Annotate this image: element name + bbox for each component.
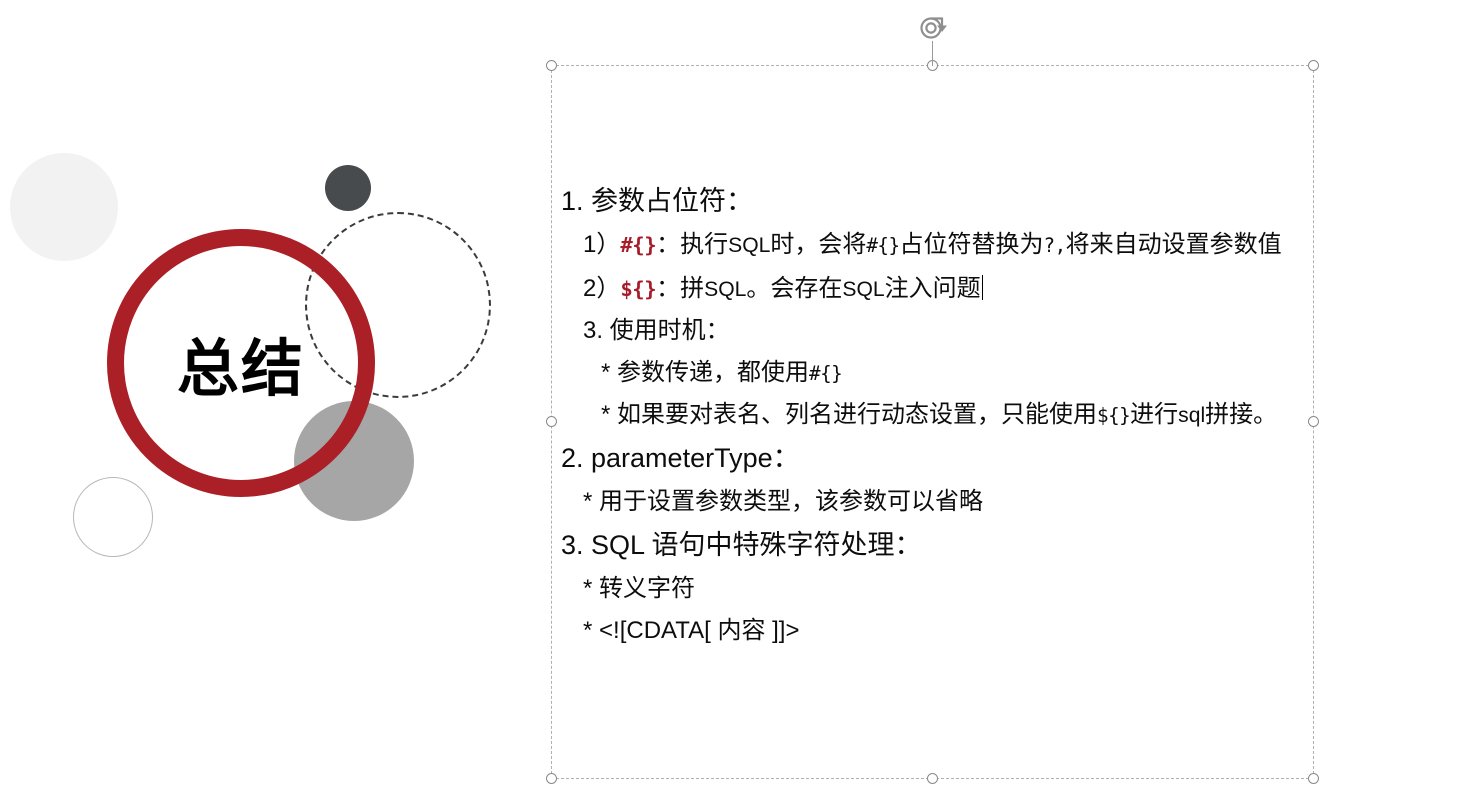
text-run: 1） bbox=[583, 231, 620, 258]
text-line[interactable]: 2）${}：拼SQL。会存在SQL注入问题 bbox=[583, 275, 1306, 301]
text-line[interactable]: * 转义字符 bbox=[583, 577, 1306, 601]
sql-keyword: SQL bbox=[704, 278, 746, 301]
resize-handle-middle-right[interactable] bbox=[1308, 416, 1319, 427]
text-line[interactable]: * 用于设置参数类型，该参数可以省略 bbox=[583, 490, 1306, 514]
text-run: * 用于设置参数类型，该参数可以省略 bbox=[583, 488, 983, 515]
sql-keyword: sql bbox=[1178, 404, 1205, 427]
mono-token: ?, bbox=[1044, 234, 1066, 257]
text-line[interactable]: * 参数传递，都使用#{} bbox=[601, 361, 1306, 385]
code-token: #{} bbox=[620, 233, 656, 257]
dark-small-circle-icon bbox=[325, 165, 371, 211]
text-line[interactable]: 1. 参数占位符： bbox=[561, 188, 1306, 215]
text-run: 1. 参数占位符： bbox=[561, 186, 753, 216]
textbox-content[interactable]: 1. 参数占位符：1）#{}：执行SQL时，会将#{}占位符替换为?,将来自动设… bbox=[561, 188, 1306, 661]
text-line[interactable]: 3. 使用时机： bbox=[583, 319, 1306, 343]
sql-keyword: SQL bbox=[728, 234, 770, 257]
rotate-icon[interactable] bbox=[917, 14, 949, 44]
text-run: 进行 bbox=[1130, 401, 1178, 428]
text-run: 2. parameterType： bbox=[561, 443, 800, 473]
text-run: 拼接。 bbox=[1205, 401, 1277, 428]
text-run: * 参数传递，都使用 bbox=[601, 359, 809, 386]
resize-handle-bottom-middle[interactable] bbox=[927, 773, 938, 784]
text-line[interactable]: 1）#{}：执行SQL时，会将#{}占位符替换为?,将来自动设置参数值 bbox=[583, 233, 1306, 257]
text-caret bbox=[982, 275, 984, 300]
text-run: 3. SQL 语句中特殊字符处理： bbox=[561, 530, 922, 560]
mono-token: #{} bbox=[809, 362, 842, 385]
text-run: 占位符替换为 bbox=[900, 231, 1044, 258]
text-run: 2） bbox=[583, 275, 620, 302]
text-line[interactable]: * 如果要对表名、列名进行动态设置，只能使用${}进行sql拼接。 bbox=[601, 403, 1306, 427]
resize-handle-middle-left[interactable] bbox=[546, 416, 557, 427]
text-line[interactable]: 2. parameterType： bbox=[561, 445, 1306, 472]
resize-handle-bottom-right[interactable] bbox=[1308, 773, 1319, 784]
text-run: ：执行 bbox=[656, 231, 728, 258]
pale-large-circle-icon bbox=[10, 153, 118, 261]
text-run: 注入问题 bbox=[885, 275, 981, 302]
text-run: 。会存在 bbox=[746, 275, 842, 302]
decoration-title: 总结 bbox=[107, 229, 375, 497]
text-run: * 如果要对表名、列名进行动态设置，只能使用 bbox=[601, 401, 1097, 428]
rotate-handle[interactable] bbox=[917, 14, 949, 66]
text-run: 将来自动设置参数值 bbox=[1066, 231, 1282, 258]
resize-handle-top-right[interactable] bbox=[1308, 60, 1319, 71]
text-run: * <![CDATA[ 内容 ]]> bbox=[583, 617, 800, 644]
decorative-graphic[interactable]: 总结 bbox=[0, 0, 520, 600]
sql-keyword: SQL bbox=[842, 278, 884, 301]
text-run: 时，会将 bbox=[770, 231, 866, 258]
rotate-handle-stem bbox=[932, 41, 933, 66]
text-run: 3. 使用时机： bbox=[583, 317, 730, 344]
resize-handle-bottom-left[interactable] bbox=[546, 773, 557, 784]
text-run: * 转义字符 bbox=[583, 575, 695, 602]
resize-handle-top-left[interactable] bbox=[546, 60, 557, 71]
code-token: ${} bbox=[620, 277, 656, 301]
text-run: ：拼 bbox=[656, 275, 704, 302]
text-line[interactable]: 3. SQL 语句中特殊字符处理： bbox=[561, 532, 1306, 559]
slide-canvas: 总结 1. 参数占位符：1）#{}：执行SQL时，会将#{}占位符替换为?,将来… bbox=[0, 0, 1467, 794]
mono-token: #{} bbox=[866, 234, 899, 257]
mono-token: ${} bbox=[1097, 404, 1130, 427]
text-line[interactable]: * <![CDATA[ 内容 ]]> bbox=[583, 619, 1306, 643]
